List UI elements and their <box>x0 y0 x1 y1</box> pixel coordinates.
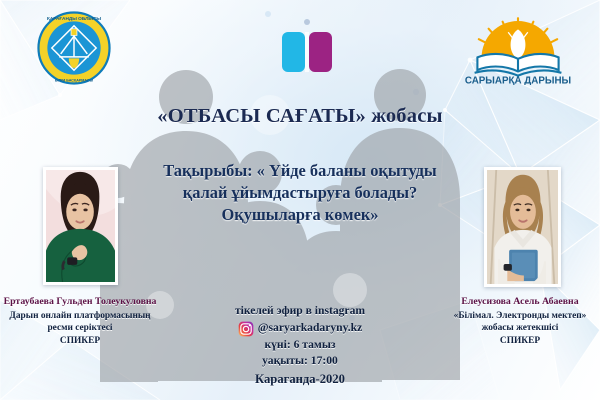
subject-text: Тақырыбы: « Үйде баланы оқытуды қалай ұй… <box>150 160 450 225</box>
speaker-left-role: Дарын онлайн платформасының ресми серікт… <box>9 311 150 333</box>
event-poster: ҚАРАҒАНДЫ ОБЛЫСЫ БІЛІМ БАСҚАРМАСЫ САРЫАР… <box>0 0 600 400</box>
speaker-right-name: Елеусизова Асель Абаевна <box>441 296 599 309</box>
speaker-left-photo <box>43 167 118 285</box>
speaker-right-role: «Білімал. Электронды мектеп» жобасы жете… <box>454 311 587 333</box>
city-year: Караганда-2020 <box>180 372 420 387</box>
broadcast-info: тікелей эфир в instagram @saryarkadaryny… <box>180 303 420 370</box>
open-book-logo <box>276 16 338 78</box>
instagram-handle[interactable]: @saryarkadaryny.kz <box>258 320 363 336</box>
live-line: тікелей эфир в instagram <box>180 303 420 319</box>
svg-text:ҚАРАҒАНДЫ ОБЛЫСЫ: ҚАРАҒАНДЫ ОБЛЫСЫ <box>47 16 101 22</box>
page-title: «ОТБАСЫ САҒАТЫ» жобасы <box>0 105 600 128</box>
speaker-right-photo <box>484 167 561 287</box>
speaker-left-caption: Ертаубаева Гульден Толеукуловна Дарын он… <box>1 296 159 347</box>
event-date: күні: 6 тамыз <box>180 337 420 353</box>
svg-text:БІЛІМ БАСҚАРМАСЫ: БІЛІМ БАСҚАРМАСЫ <box>55 78 94 82</box>
speaker-right-caption: Елеусизова Асель Абаевна «Білімал. Элект… <box>441 296 599 347</box>
saryarka-daryny-label: САРЫАРҚА ДАРЫНЫ <box>465 75 571 85</box>
speaker-right-badge: СПИКЕР <box>441 335 599 347</box>
event-time: уақыты: 17:00 <box>180 353 420 369</box>
instagram-icon[interactable] <box>238 321 254 337</box>
instagram-handle-row[interactable]: @saryarkadaryny.kz <box>180 320 420 336</box>
karaganda-region-emblem-logo: ҚАРАҒАНДЫ ОБЛЫСЫ БІЛІМ БАСҚАРМАСЫ <box>37 11 111 85</box>
speaker-left-name: Ертаубаева Гульден Толеукуловна <box>1 296 159 309</box>
saryarka-daryny-logo: САРЫАРҚА ДАРЫНЫ <box>448 13 588 85</box>
speaker-left-badge: СПИКЕР <box>1 335 159 347</box>
